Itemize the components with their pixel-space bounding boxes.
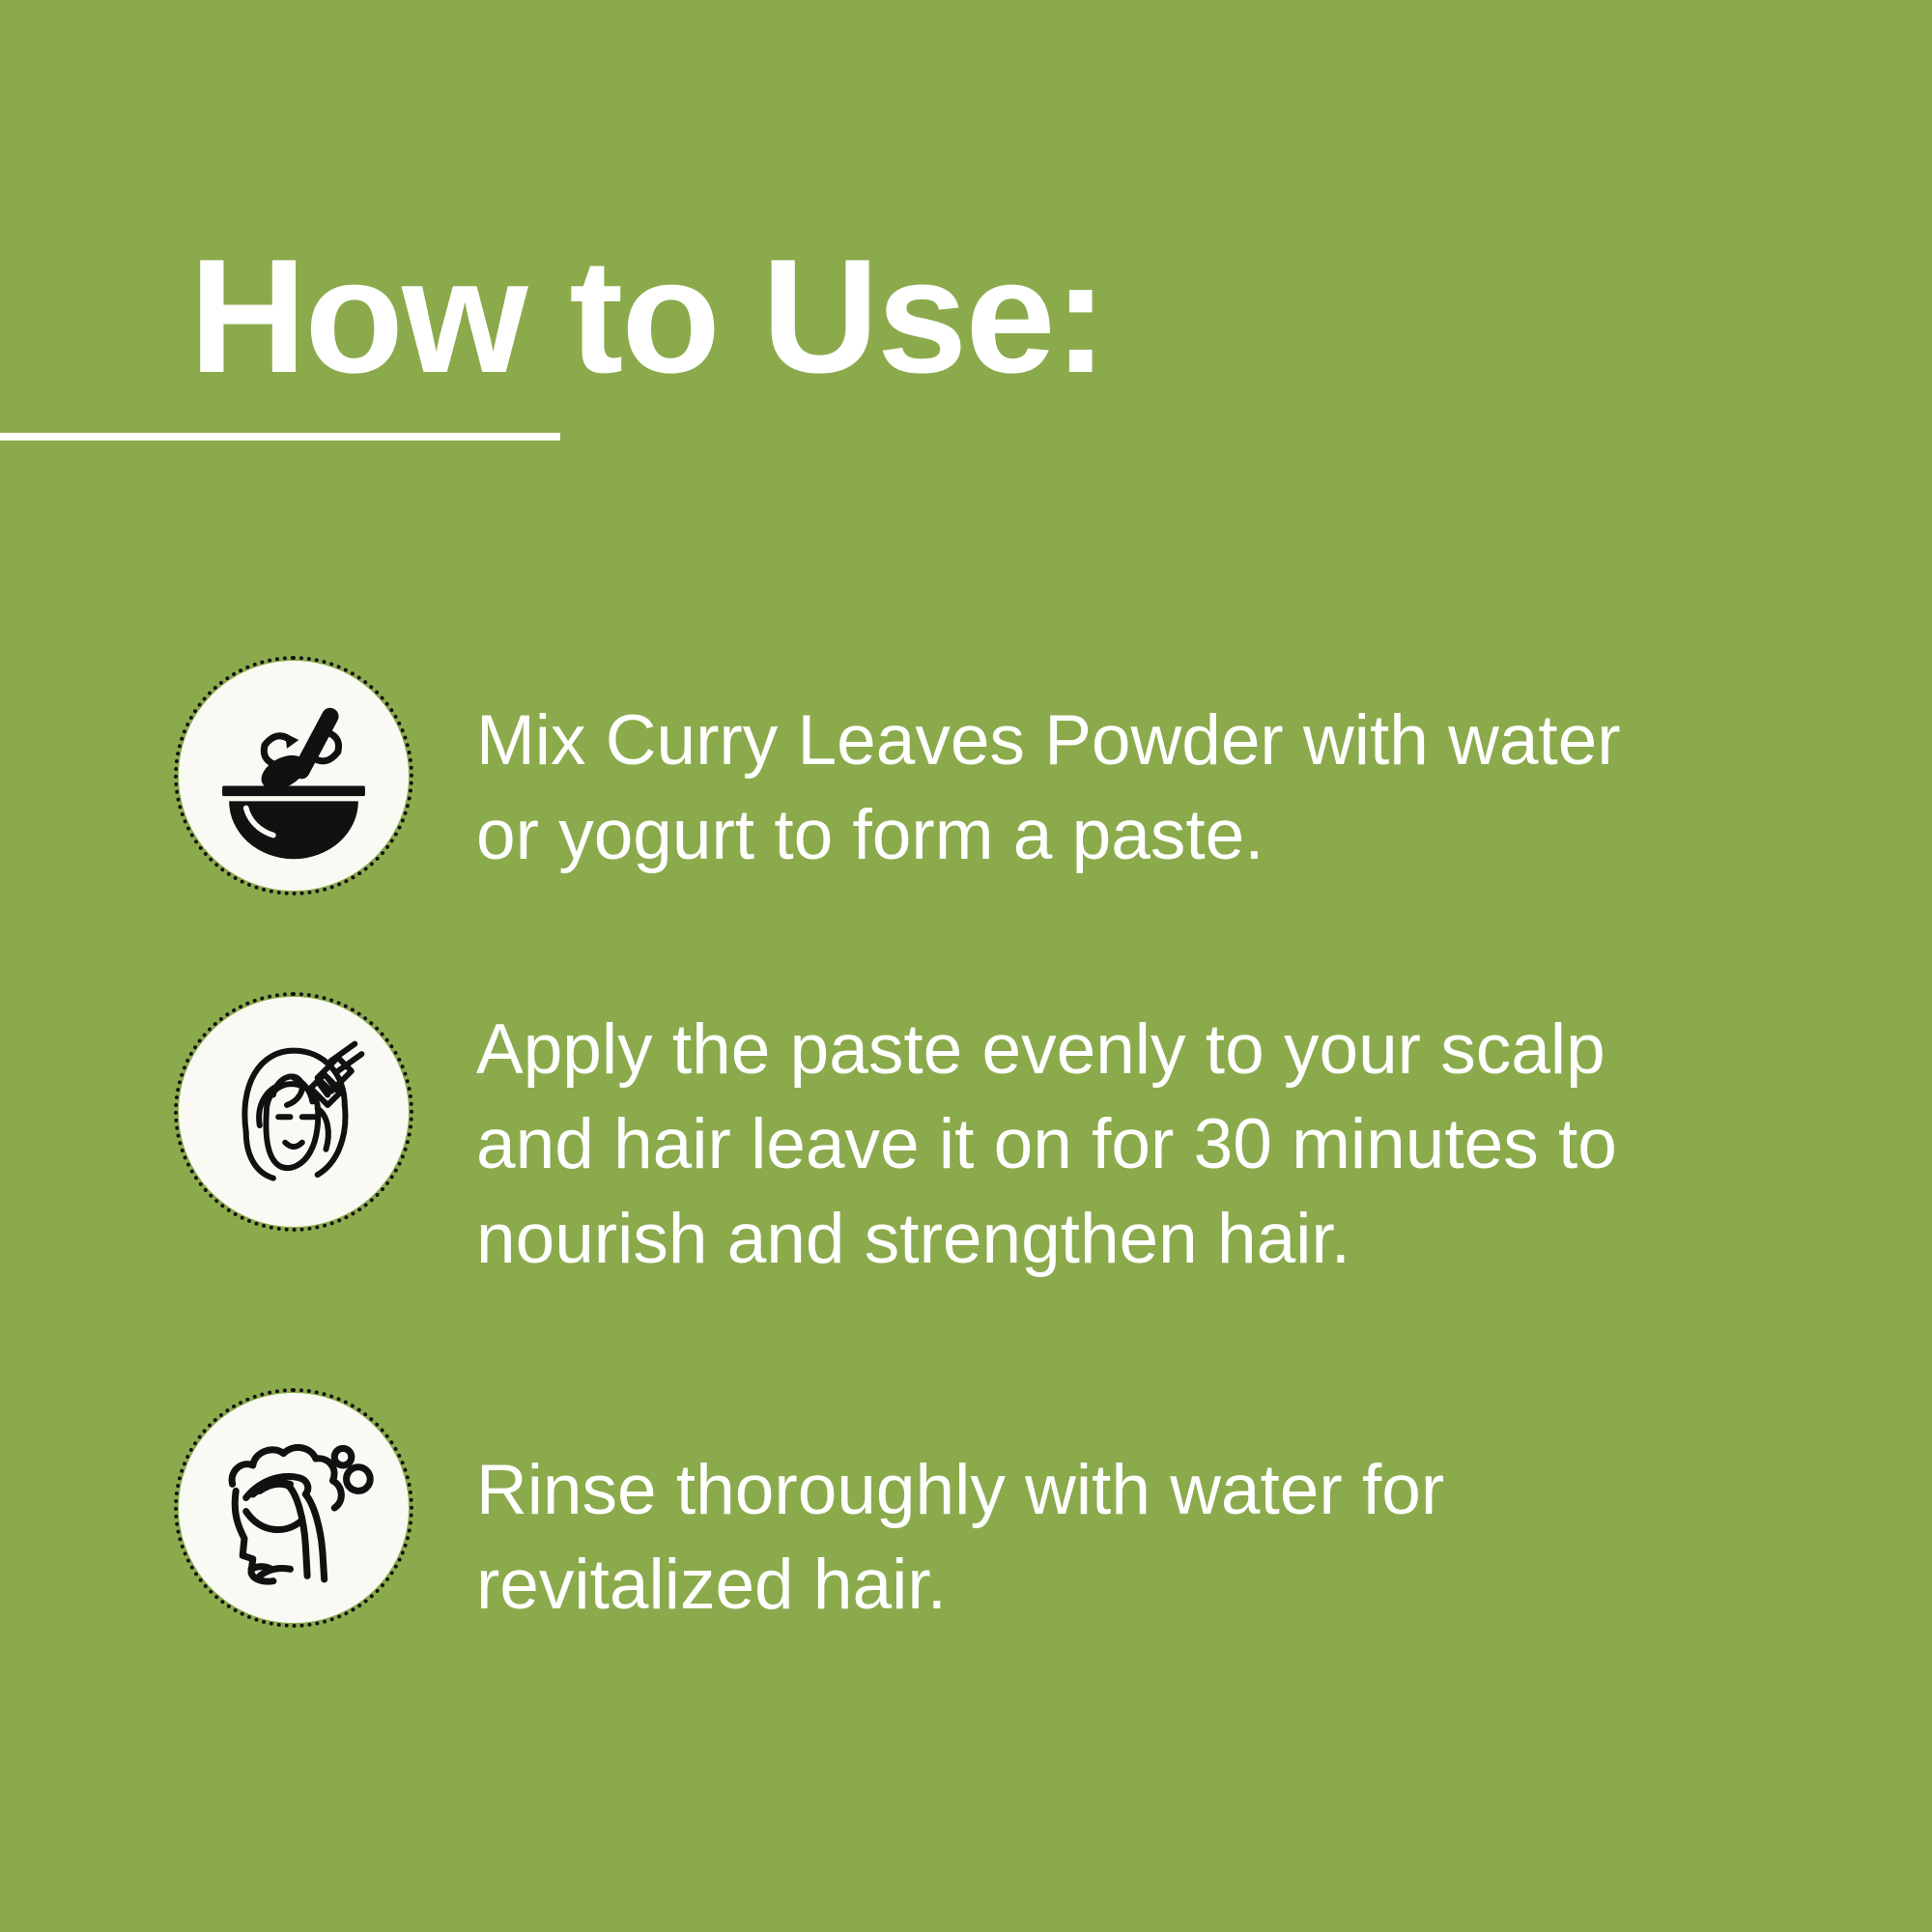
hair-brush-application-icon: [179, 997, 409, 1227]
list-item-label: Rinse thoroughly with water for revitali…: [409, 1393, 1635, 1633]
steps-list: Mix Curry Leaves Powder with water or yo…: [0, 661, 1932, 1633]
list-item: Apply the paste evenly to your scalp and…: [0, 997, 1932, 1287]
hair-washing-rinse-icon: [179, 1393, 409, 1623]
list-item-label: Mix Curry Leaves Powder with water or yo…: [409, 661, 1635, 883]
list-item: Mix Curry Leaves Powder with water or yo…: [0, 661, 1932, 891]
list-item: Rinse thoroughly with water for revitali…: [0, 1393, 1932, 1633]
mixing-bowl-spoon-icon: [179, 661, 409, 891]
title-underline-rule: [0, 433, 560, 440]
list-item-label: Apply the paste evenly to your scalp and…: [409, 997, 1635, 1287]
page-title: How to Use:: [189, 235, 1106, 397]
